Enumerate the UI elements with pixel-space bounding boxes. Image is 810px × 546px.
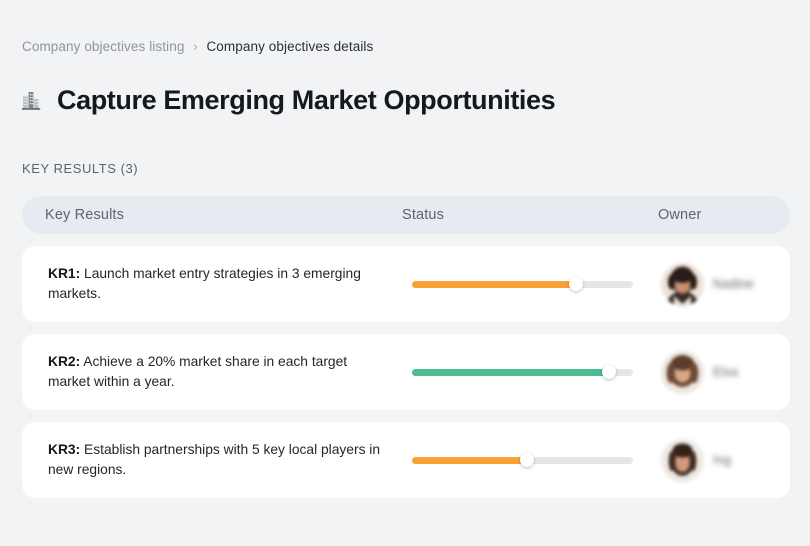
breadcrumb-parent-link[interactable]: Company objectives listing (22, 38, 184, 56)
column-header-key-results: Key Results (22, 207, 402, 223)
key-result-tag: KR3: (48, 442, 80, 457)
table-header-row: Key Results Status Owner (22, 196, 790, 234)
owner-name: Nadine (713, 277, 754, 291)
key-result-text-cell: KR3: Establish partnerships with 5 key l… (22, 426, 402, 494)
key-result-description: Establish partnerships with 5 key local … (48, 442, 380, 477)
owner-cell: Nadine (658, 263, 790, 306)
breadcrumb-current: Company objectives details (206, 38, 373, 56)
progress-thumb[interactable] (520, 453, 534, 467)
status-cell (402, 452, 658, 468)
column-header-status: Status (402, 207, 658, 223)
avatar[interactable] (661, 439, 704, 482)
progress-thumb[interactable] (602, 365, 616, 379)
key-result-text-cell: KR2: Achieve a 20% market share in each … (22, 338, 402, 406)
objective-details-page: Company objectives listing › Company obj… (0, 0, 810, 546)
owner-cell: Ing (658, 439, 790, 482)
key-result-text-cell: KR1: Launch market entry strategies in 3… (22, 250, 402, 318)
office-building-icon (20, 87, 44, 113)
table-body: KR1: Launch market entry strategies in 3… (22, 246, 790, 498)
table-row[interactable]: KR3: Establish partnerships with 5 key l… (22, 422, 790, 498)
avatar[interactable] (661, 263, 704, 306)
status-cell (402, 276, 658, 292)
page-title: Capture Emerging Market Opportunities (57, 83, 555, 117)
key-result-tag: KR2: (48, 354, 80, 369)
key-results-section-label: KEY RESULTS (3) (22, 161, 138, 176)
chevron-right-icon: › (193, 38, 197, 56)
table-row[interactable]: KR1: Launch market entry strategies in 3… (22, 246, 790, 322)
key-result-description: Launch market entry strategies in 3 emer… (48, 266, 361, 301)
progress-slider[interactable] (412, 452, 633, 468)
status-cell (402, 364, 658, 380)
key-result-description: Achieve a 20% market share in each targe… (48, 354, 347, 389)
breadcrumb: Company objectives listing › Company obj… (22, 38, 373, 56)
progress-fill (412, 281, 576, 288)
avatar[interactable] (661, 351, 704, 394)
progress-slider[interactable] (412, 364, 633, 380)
progress-slider[interactable] (412, 276, 633, 292)
owner-cell: Elsa (658, 351, 790, 394)
progress-fill (412, 457, 527, 464)
page-title-row: Capture Emerging Market Opportunities (20, 65, 555, 135)
key-results-table: Key Results Status Owner KR1: Launch mar… (22, 196, 790, 510)
progress-fill (412, 369, 609, 376)
progress-thumb[interactable] (569, 277, 583, 291)
owner-name: Ing (713, 453, 731, 467)
table-row[interactable]: KR2: Achieve a 20% market share in each … (22, 334, 790, 410)
column-header-owner: Owner (658, 207, 790, 223)
key-result-tag: KR1: (48, 266, 80, 281)
owner-name: Elsa (713, 365, 738, 379)
